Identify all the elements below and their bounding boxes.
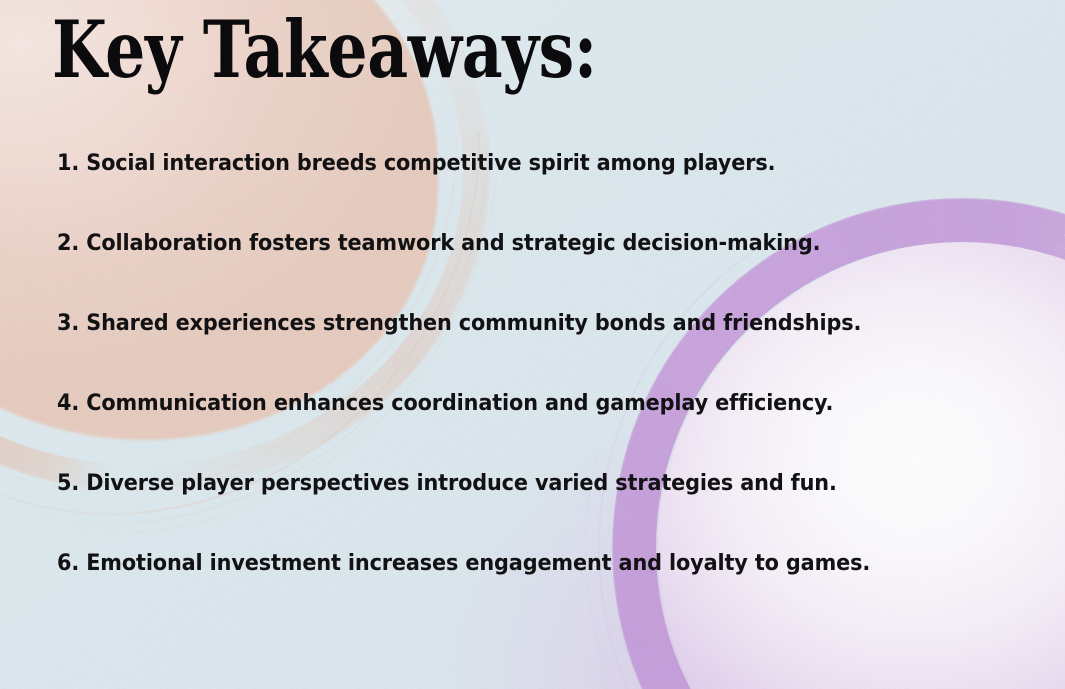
list-item: 4. Communication enhances coordination a… xyxy=(57,392,952,472)
slide-content: Key Takeaways: 1. Social interaction bre… xyxy=(0,0,1065,689)
list-item: 1. Social interaction breeds competitive… xyxy=(57,152,952,232)
page-title: Key Takeaways: xyxy=(52,9,597,91)
list-item: 2. Collaboration fosters teamwork and st… xyxy=(57,232,952,312)
list-item: 3. Shared experiences strengthen communi… xyxy=(57,312,952,392)
slide-canvas: Key Takeaways: 1. Social interaction bre… xyxy=(0,0,1065,689)
list-item: 6. Emotional investment increases engage… xyxy=(57,552,952,632)
takeaways-list: 1. Social interaction breeds competitive… xyxy=(57,152,1025,632)
list-item: 5. Diverse player perspectives introduce… xyxy=(57,472,952,552)
